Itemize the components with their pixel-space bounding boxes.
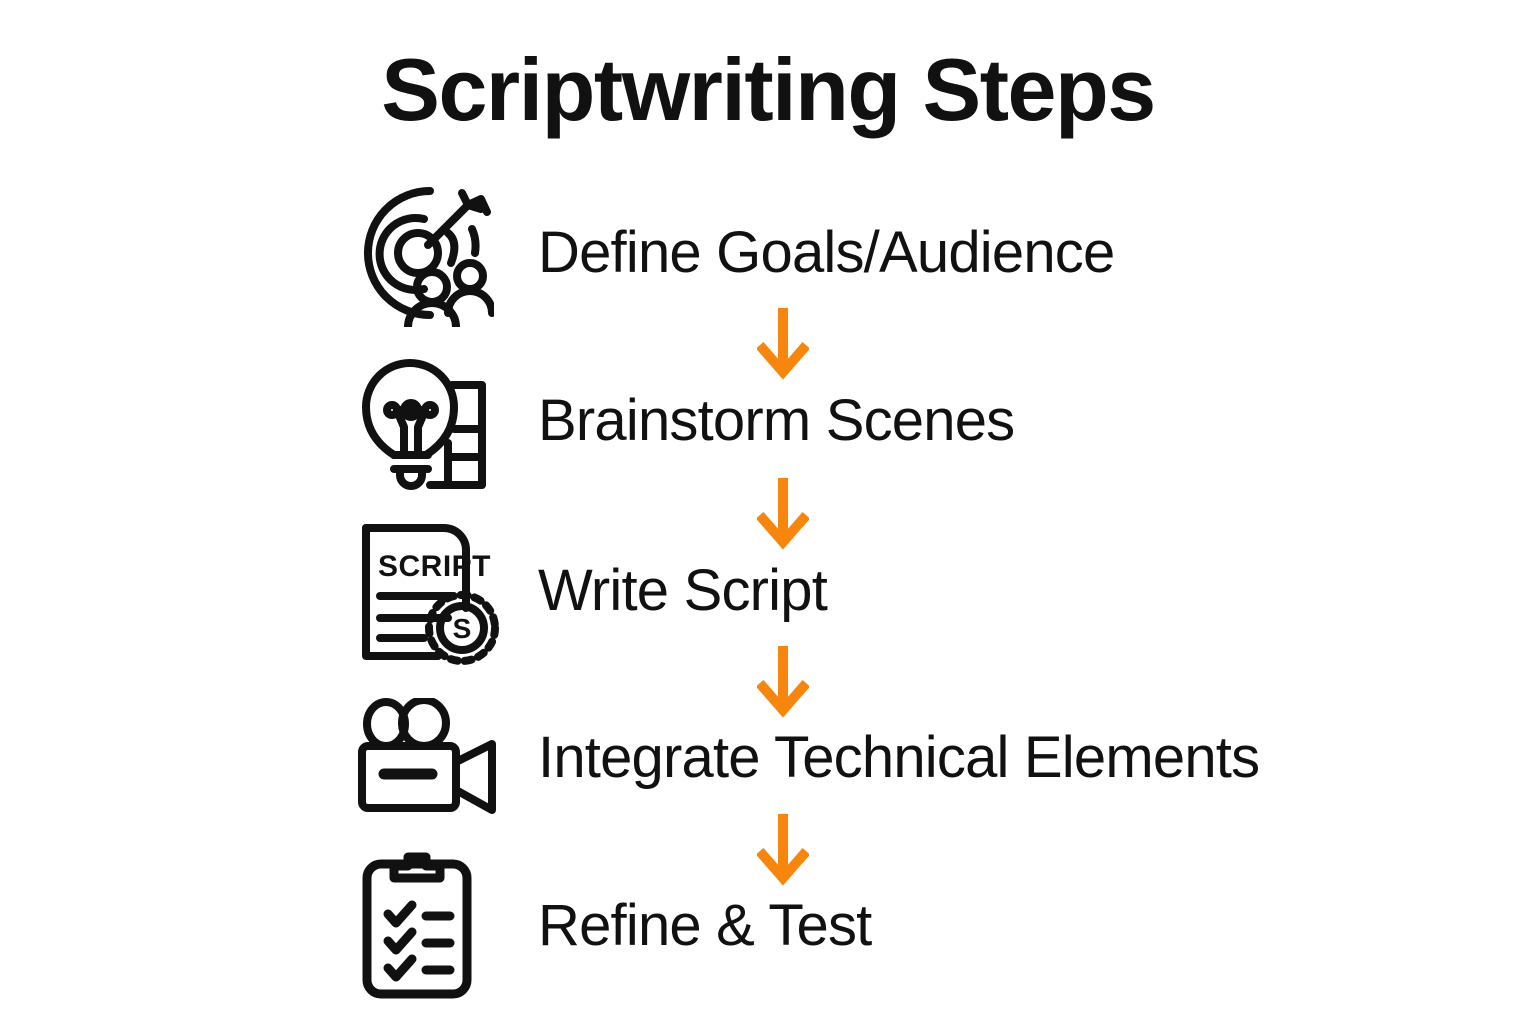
flow-step-write-script[interactable]: SCRIPT S Write Script: [352, 516, 1452, 666]
lightbulb-storyboard-icon: [352, 346, 502, 496]
flow-step-label: Brainstorm Scenes: [538, 392, 1014, 450]
flow-step-brainstorm-scenes[interactable]: Brainstorm Scenes: [352, 346, 1452, 496]
svg-text:SCRIPT: SCRIPT: [378, 550, 491, 583]
page-title: Scriptwriting Steps: [0, 44, 1536, 136]
infographic-canvas: Scriptwriting Steps: [0, 0, 1536, 1024]
flow-step-label: Refine & Test: [538, 897, 872, 955]
scriptwriting-steps-flow: Define Goals/Audience: [0, 178, 1536, 1024]
svg-text:S: S: [453, 613, 472, 644]
clipboard-checklist-icon: [352, 851, 502, 1001]
flow-step-refine-test[interactable]: Refine & Test: [352, 851, 1452, 1001]
arrow-down-icon: [757, 308, 809, 380]
arrow-down-icon: [757, 814, 809, 886]
script-document-gear-icon: SCRIPT S: [352, 516, 502, 666]
target-audience-icon: [352, 178, 502, 328]
flow-step-label: Integrate Technical Elements: [538, 729, 1259, 787]
flow-step-label: Define Goals/Audience: [538, 224, 1114, 282]
arrow-down-icon: [757, 478, 809, 550]
flow-step-define-goals-audience[interactable]: Define Goals/Audience: [352, 178, 1452, 328]
flow-step-label: Write Script: [538, 562, 827, 620]
flow-step-integrate-technical-elements[interactable]: Integrate Technical Elements: [352, 683, 1452, 833]
movie-camera-icon: [352, 683, 502, 833]
arrow-down-icon: [757, 646, 809, 718]
